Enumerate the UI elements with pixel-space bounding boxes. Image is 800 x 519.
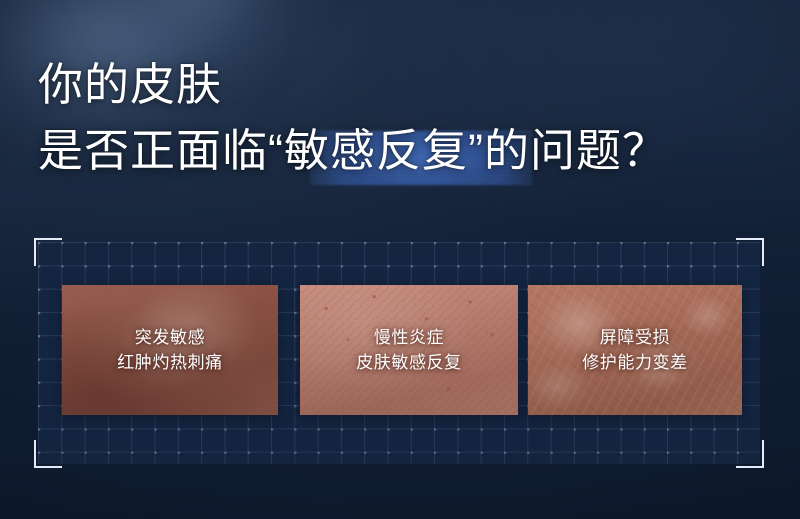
card-caption-line-1: 慢性炎症 (300, 325, 518, 350)
headline-line-2-before: 是否正面临 (38, 125, 268, 176)
symptom-card-barrier-damage: 屏障受损 修护能力变差 (528, 285, 742, 415)
card-caption-line-2: 修护能力变差 (528, 350, 742, 375)
headline-line-2-after: 的问题？ (484, 125, 668, 176)
card-caption-line-2: 皮肤敏感反复 (300, 350, 518, 375)
symptom-card-sudden-sensitivity: 突发敏感 红肿灼热刺痛 (62, 285, 278, 415)
grid-panel: 突发敏感 红肿灼热刺痛 慢性炎症 皮肤敏感反复 屏障受损 修护能力变差 (38, 242, 760, 464)
card-caption: 突发敏感 红肿灼热刺痛 (62, 325, 278, 375)
corner-bracket-top-right-icon (736, 238, 764, 266)
symptom-card-list: 突发敏感 红肿灼热刺痛 慢性炎症 皮肤敏感反复 屏障受损 修护能力变差 (38, 242, 760, 464)
card-caption-line-1: 突发敏感 (62, 325, 278, 350)
headline-line-2-highlight: “敏感反复” (268, 125, 484, 176)
headline-line-1: 你的皮肤 (38, 54, 778, 116)
promo-banner: 你的皮肤 是否正面临“敏感反复”的问题？ 突发敏感 红肿灼热刺痛 (0, 0, 800, 519)
corner-bracket-top-left-icon (34, 238, 62, 266)
headline-block: 你的皮肤 是否正面临“敏感反复”的问题？ (38, 54, 778, 182)
card-caption-line-2: 红肿灼热刺痛 (62, 350, 278, 375)
card-caption: 屏障受损 修护能力变差 (528, 325, 742, 375)
corner-bracket-bottom-right-icon (736, 440, 764, 468)
headline-line-2: 是否正面临“敏感反复”的问题？ (38, 120, 778, 182)
symptom-card-chronic-inflammation: 慢性炎症 皮肤敏感反复 (300, 285, 518, 415)
card-caption-line-1: 屏障受损 (528, 325, 742, 350)
card-caption: 慢性炎症 皮肤敏感反复 (300, 325, 518, 375)
corner-bracket-bottom-left-icon (34, 440, 62, 468)
